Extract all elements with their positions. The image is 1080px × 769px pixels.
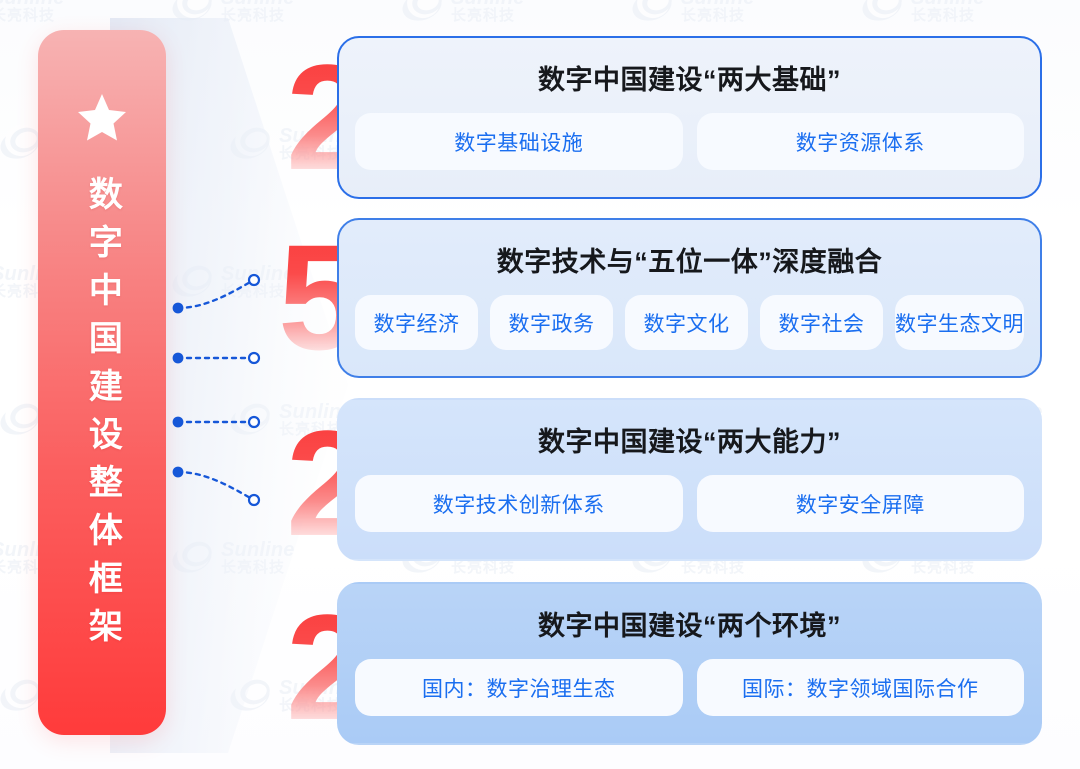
watermark-logo: Sunline长亮科技: [228, 676, 353, 716]
card-title: 数字技术与“五位一体”深度融合: [497, 240, 883, 279]
watermark-brand-en: Sunline: [681, 0, 755, 9]
watermark-brand-cn: 长亮科技: [911, 559, 975, 576]
tag-item[interactable]: 数字生态文明: [895, 295, 1024, 350]
sunline-swoosh-icon: [0, 400, 42, 440]
tag-item[interactable]: 数字经济: [355, 295, 478, 350]
section-card-2[interactable]: 数字技术与“五位一体”深度融合 数字经济 数字政务 数字文化 数字社会 数字生态…: [337, 218, 1042, 378]
connector-endpoints: [173, 275, 259, 505]
sunline-swoosh-icon: [400, 0, 444, 26]
watermark-brand-cn: 长亮科技: [279, 145, 343, 162]
tag-item[interactable]: 数字政务: [490, 295, 613, 350]
watermark-brand-cn: 长亮科技: [451, 559, 515, 576]
watermark-brand-cn: 长亮科技: [221, 559, 285, 576]
card-title: 数字中国建设“两大基础”: [538, 58, 841, 97]
sunline-swoosh-icon: [228, 124, 272, 164]
watermark-logo: Sunline长亮科技: [0, 0, 65, 26]
tag-item[interactable]: 数字资源体系: [697, 113, 1025, 170]
watermark-brand-en: Sunline: [0, 0, 65, 9]
connector-lines: [170, 255, 280, 510]
section-card-1[interactable]: 数字中国建设“两大基础” 数字基础设施 数字资源体系: [337, 36, 1042, 199]
sunline-swoosh-icon: [170, 538, 214, 578]
watermark-logo: Sunline长亮科技: [860, 0, 985, 26]
banner-title: 数字中国建设整体框架: [85, 176, 120, 656]
watermark-brand-cn: 长亮科技: [681, 559, 745, 576]
tag-item[interactable]: 国际：数字领域国际合作: [697, 659, 1025, 716]
sunline-swoosh-icon: [0, 124, 42, 164]
sunline-swoosh-icon: [228, 676, 272, 716]
tag-group: 数字基础设施 数字资源体系: [355, 113, 1024, 170]
tag-item[interactable]: 数字基础设施: [355, 113, 683, 170]
tag-item[interactable]: 国内：数字治理生态: [355, 659, 683, 716]
watermark-logo: Sunline长亮科技: [228, 124, 353, 164]
section-card-3[interactable]: 数字中国建设“两大能力” 数字技术创新体系 数字安全屏障: [337, 398, 1042, 561]
section-card-4[interactable]: 数字中国建设“两个环境” 国内：数字治理生态 国际：数字领域国际合作: [337, 582, 1042, 745]
watermark-logo: Sunline长亮科技: [630, 0, 755, 26]
tag-group: 数字经济 数字政务 数字文化 数字社会 数字生态文明: [355, 295, 1024, 350]
tag-item[interactable]: 数字社会: [760, 295, 883, 350]
tag-item[interactable]: 数字技术创新体系: [355, 475, 683, 532]
watermark-logo: Sunline长亮科技: [170, 538, 295, 578]
watermark-brand-cn: 长亮科技: [451, 7, 515, 24]
watermark-logo: Sunline长亮科技: [400, 0, 525, 26]
tag-group: 国内：数字治理生态 国际：数字领域国际合作: [355, 659, 1024, 716]
sunline-swoosh-icon: [630, 0, 674, 26]
connector-path-1: [178, 281, 252, 308]
card-title: 数字中国建设“两大能力”: [538, 420, 841, 459]
watermark-brand-cn: 长亮科技: [0, 7, 55, 24]
infographic-canvas: Sunline长亮科技Sunline长亮科技Sunline长亮科技Sunline…: [0, 0, 1080, 769]
sunline-swoosh-icon: [0, 676, 42, 716]
tag-item[interactable]: 数字安全屏障: [697, 475, 1025, 532]
watermark-brand-en: Sunline: [451, 0, 525, 9]
watermark-brand-cn: 长亮科技: [911, 7, 975, 24]
watermark-brand-cn: 长亮科技: [681, 7, 745, 24]
tag-group: 数字技术创新体系 数字安全屏障: [355, 475, 1024, 532]
watermark-brand-en: Sunline: [221, 539, 295, 561]
card-title: 数字中国建设“两个环境”: [538, 604, 841, 643]
watermark-brand-cn: 长亮科技: [279, 421, 343, 438]
watermark-brand-cn: 长亮科技: [221, 7, 285, 24]
tag-item[interactable]: 数字文化: [625, 295, 748, 350]
framework-banner: 数字中国建设整体框架: [38, 30, 166, 735]
sunline-swoosh-icon: [860, 0, 904, 26]
watermark-brand-en: Sunline: [221, 0, 295, 9]
watermark-brand-cn: 长亮科技: [279, 697, 343, 714]
sunline-swoosh-icon: [170, 0, 214, 26]
watermark-logo: Sunline长亮科技: [170, 0, 295, 26]
connector-path-4: [178, 472, 252, 499]
watermark-brand-en: Sunline: [911, 0, 985, 9]
star-icon: [76, 92, 128, 142]
